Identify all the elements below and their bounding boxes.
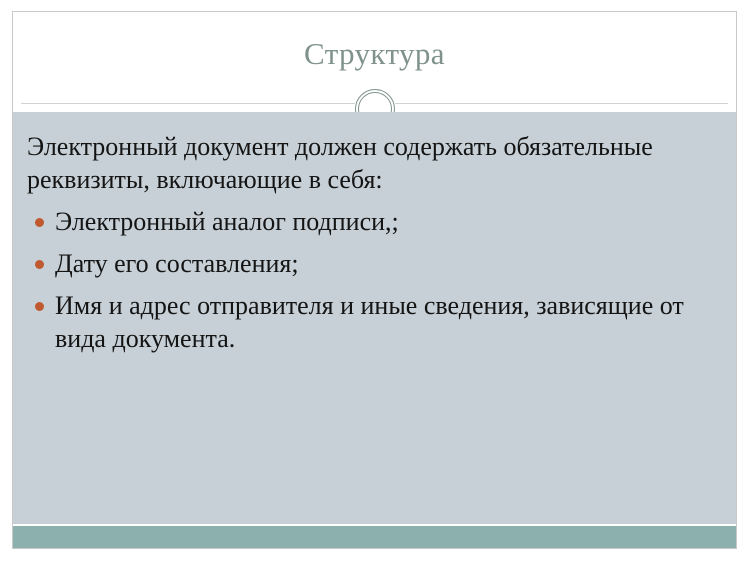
list-item-text: Имя и адрес отправителя и иные сведения,… <box>55 291 684 353</box>
bullet-dot-icon <box>35 218 44 227</box>
presentation-slide: Структура Электронный документ должен со… <box>12 11 737 549</box>
list-item-text: Электронный аналог подписи,; <box>55 207 399 236</box>
slide-title: Структура <box>13 34 736 74</box>
list-item: Дату его составления; <box>27 247 702 280</box>
list-item-text: Дату его составления; <box>55 249 299 278</box>
footer-accent-bar <box>13 526 736 549</box>
bullet-dot-icon <box>35 260 44 269</box>
intro-paragraph: Электронный документ должен содержать об… <box>27 130 702 196</box>
list-item: Имя и адрес отправителя и иные сведения,… <box>27 289 702 355</box>
slide-body-panel: Электронный документ должен содержать об… <box>13 112 736 524</box>
list-item: Электронный аналог подписи,; <box>27 205 702 238</box>
bullet-list: Электронный аналог подписи,; Дату его со… <box>27 205 702 355</box>
bullet-dot-icon <box>35 302 44 311</box>
slide-content: Электронный документ должен содержать об… <box>27 130 702 355</box>
